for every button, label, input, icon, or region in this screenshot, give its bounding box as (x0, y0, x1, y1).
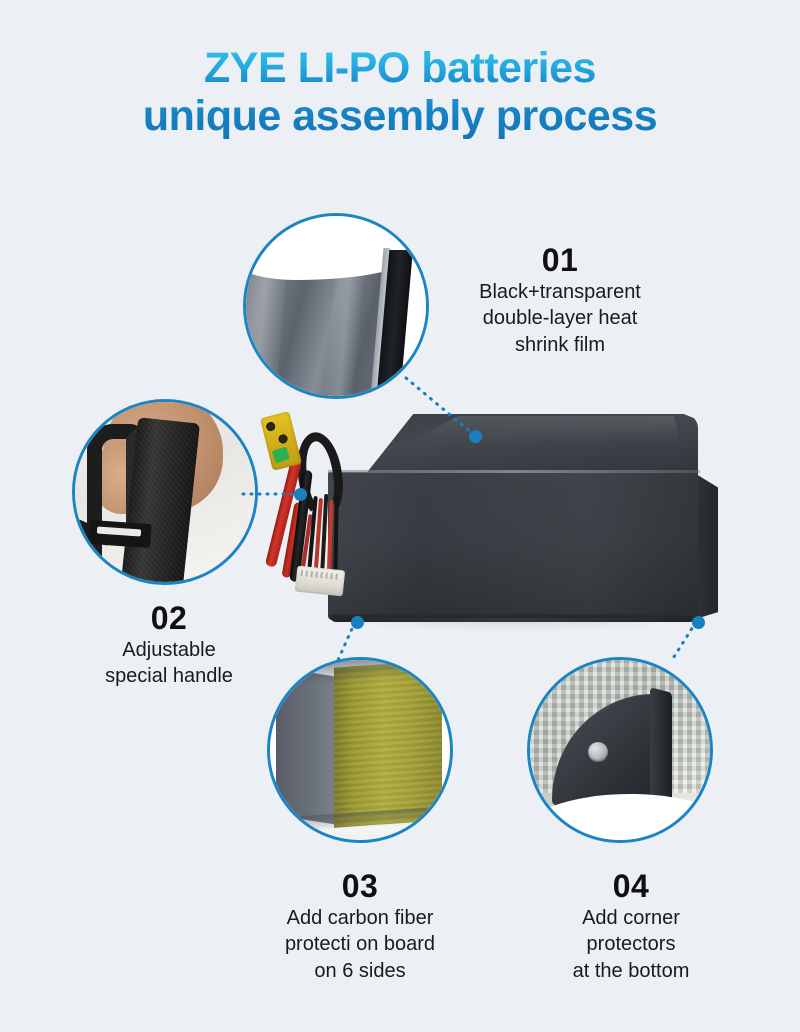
battery-pack-illustration (270, 410, 730, 660)
xt90-power-connector (260, 411, 302, 471)
callout-label-04: 04 Add corner protectors at the bottom (518, 868, 744, 985)
callout-text-02: Adjustable special handle (60, 637, 278, 690)
callout-text-04: Add corner protectors at the bottom (518, 905, 744, 985)
callout-photo-02 (72, 399, 258, 585)
callout-dot-03 (351, 616, 364, 629)
callout-label-03: 03 Add carbon fiber protecti on board on… (230, 868, 490, 985)
callout-label-02: 02 Adjustable special handle (60, 600, 278, 690)
callout-dot-04 (692, 616, 705, 629)
title-line-2: unique assembly process (0, 92, 800, 140)
callout-text-01: Black+transparent double-layer heat shri… (432, 279, 688, 359)
callout-number-01: 01 (432, 242, 688, 279)
battery-drop-shadow (330, 618, 696, 632)
infographic-canvas: ZYE LI-PO batteries unique assembly proc… (0, 0, 800, 1032)
callout-dot-02 (294, 488, 307, 501)
callout-text-03: Add carbon fiber protecti on board on 6 … (230, 905, 490, 985)
battery-edge-seam (328, 470, 700, 473)
jst-balance-connector (295, 566, 345, 597)
callout-photo-03 (267, 657, 453, 843)
title-line-1: ZYE LI-PO batteries (0, 44, 800, 92)
page-title: ZYE LI-PO batteries unique assembly proc… (0, 44, 800, 140)
callout-dot-01 (469, 430, 482, 443)
callout-number-04: 04 (518, 868, 744, 905)
callout-number-02: 02 (60, 600, 278, 637)
battery-front-face (328, 472, 698, 620)
callout-photo-01 (243, 213, 429, 399)
callout-photo-04 (527, 657, 713, 843)
callout-label-01: 01 Black+transparent double-layer heat s… (432, 242, 688, 359)
callout-number-03: 03 (230, 868, 490, 905)
